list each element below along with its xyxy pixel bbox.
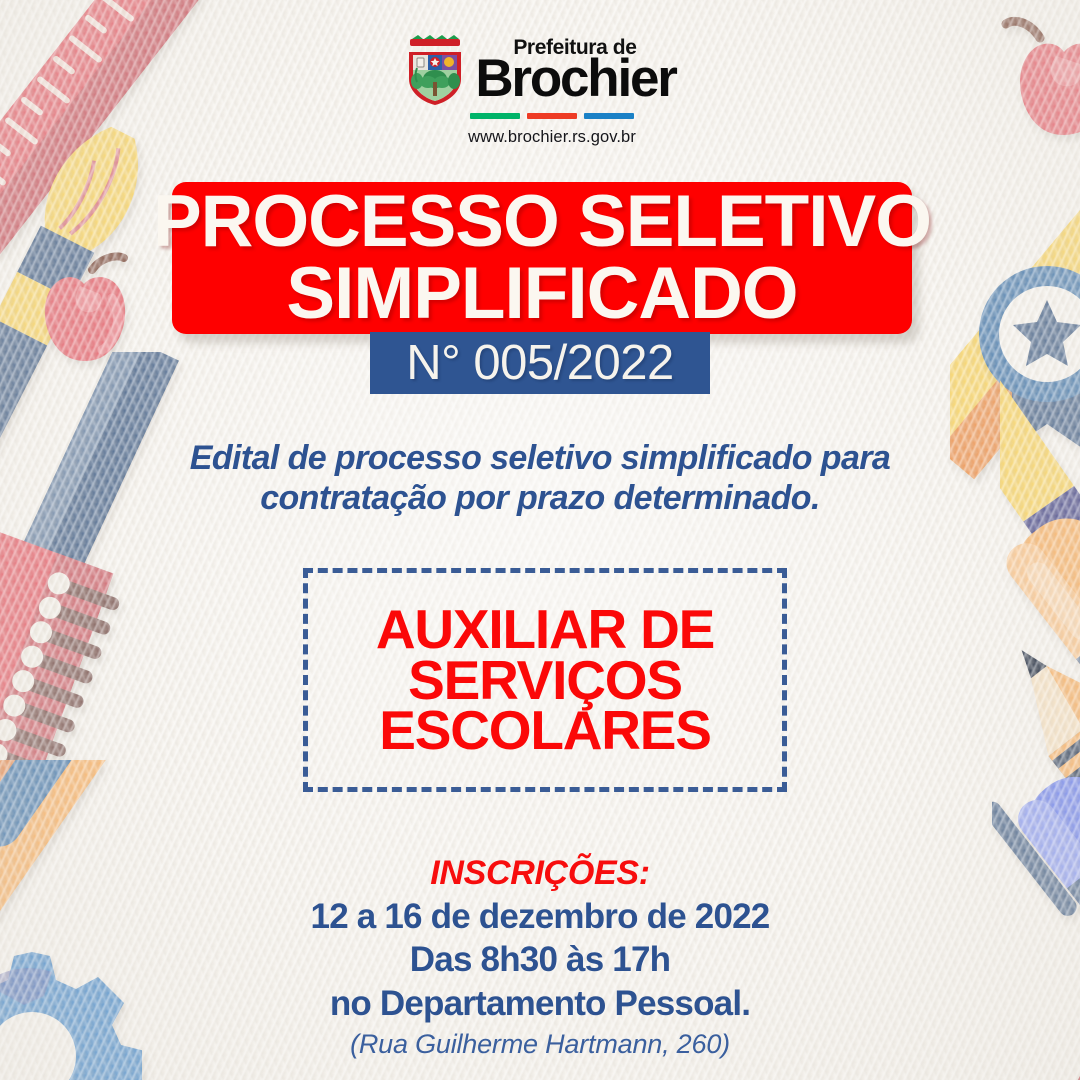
- registration-block: INSCRIÇÕES: 12 a 16 de dezembro de 2022 …: [0, 852, 1080, 1062]
- process-number-text: N° 005/2022: [406, 335, 673, 391]
- main-title-banner: PROCESSO SELETIVO SIMPLIFICADO: [172, 182, 912, 334]
- registration-dates: 12 a 16 de dezembro de 2022: [0, 895, 1080, 939]
- red-bar: [527, 113, 577, 119]
- job-title-box: AUXILIAR DE SERVIÇOS ESCOLARES: [303, 568, 787, 792]
- registration-address: (Rua Guilherme Hartmann, 260): [0, 1027, 1080, 1062]
- job-title-line1: AUXILIAR DE: [376, 604, 714, 655]
- logo-row: Prefeitura de Brochier: [404, 34, 675, 106]
- subtitle-block: Edital de processo seletivo simplificado…: [0, 438, 1080, 518]
- process-number-box: N° 005/2022: [370, 332, 710, 394]
- green-bar: [470, 113, 520, 119]
- blue-bar: [584, 113, 634, 119]
- poster-canvas: Prefeitura de Brochier www.brochier.rs.g…: [0, 0, 1080, 1080]
- logo-color-bars: [470, 113, 634, 119]
- logo-city-name: Brochier: [475, 55, 675, 104]
- job-title-line3: ESCOLARES: [379, 705, 710, 756]
- brochier-coat-of-arms-icon: [404, 34, 466, 106]
- prefeitura-logo: Prefeitura de Brochier www.brochier.rs.g…: [0, 34, 1080, 147]
- registration-location: no Departamento Pessoal.: [0, 982, 1080, 1026]
- logo-wordmark: Prefeitura de Brochier: [475, 37, 675, 104]
- subtitle-line2: contratação por prazo determinado.: [0, 478, 1080, 518]
- website-url: www.brochier.rs.gov.br: [468, 128, 636, 147]
- job-title-line2: SERVIÇOS: [408, 655, 682, 706]
- banner-title-line2: SIMPLIFICADO: [286, 259, 797, 329]
- subtitle-line1: Edital de processo seletivo simplificado…: [0, 438, 1080, 478]
- registration-hours: Das 8h30 às 17h: [0, 938, 1080, 982]
- registration-heading: INSCRIÇÕES:: [0, 852, 1080, 895]
- banner-title-line1: PROCESSO SELETIVO: [153, 187, 931, 257]
